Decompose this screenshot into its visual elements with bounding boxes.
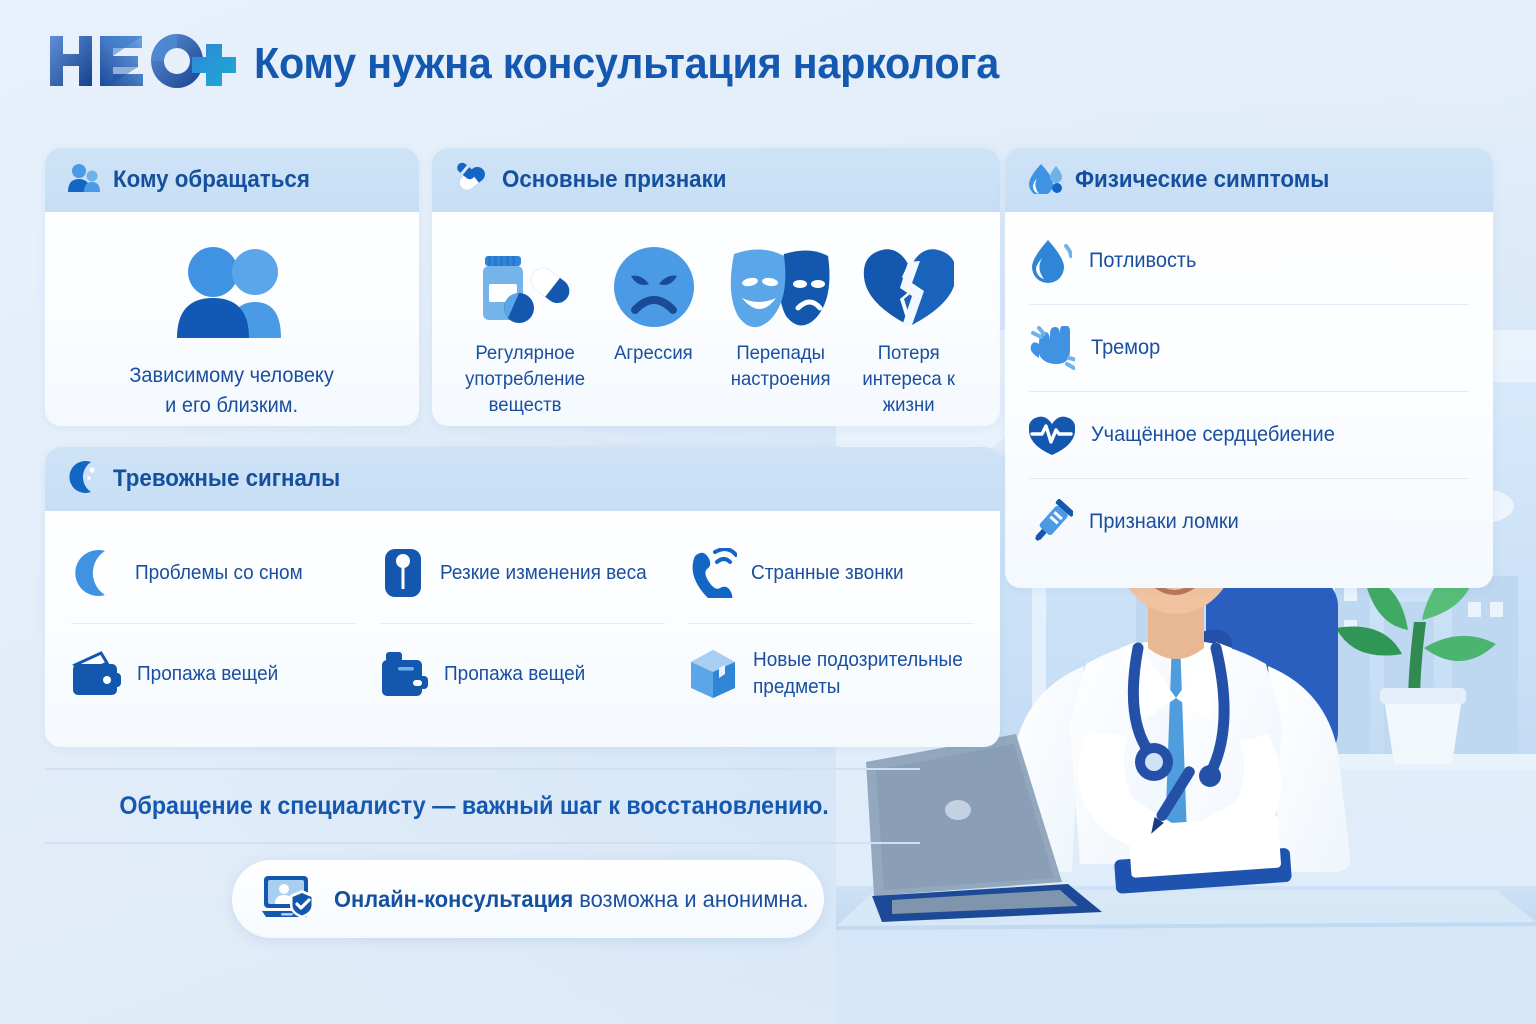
alarm-label: Пропажа вещей xyxy=(137,661,278,688)
pill-text: Онлайн-консультация возможна и анонимна. xyxy=(334,886,809,913)
alarm-item: Проблемы со сном xyxy=(71,523,356,623)
sign-item: Перепады настроения xyxy=(719,236,842,418)
card-phys-body: Потливость Тремор xyxy=(1005,212,1493,575)
alarm-label: Пропажа вещей xyxy=(444,661,585,688)
syringe-icon xyxy=(1029,499,1073,545)
sign-item: Регулярное употребление веществ xyxy=(462,236,588,418)
people-icon xyxy=(67,163,101,198)
physical-symptom-row: Учащённое сердцебиение xyxy=(1029,391,1469,478)
infographic-root: Кому нужна консультация нарколога Кому о… xyxy=(0,0,1536,1024)
angry-face-icon xyxy=(611,236,697,328)
package-box-icon xyxy=(689,648,739,700)
sign-item: Агрессия xyxy=(592,236,715,418)
heart-pulse-icon xyxy=(1029,414,1075,456)
crescent-moon-icon xyxy=(67,460,101,499)
banner-text: Обращение к специалисту — важный шаг к в… xyxy=(45,792,829,821)
alarm-item: Пропажа вещей xyxy=(380,623,665,724)
card-who-header: Кому обращаться xyxy=(45,148,419,212)
who-caption-line2: и его близким. xyxy=(130,391,334,421)
alarm-label: Проблемы со сном xyxy=(135,560,303,587)
card-phys-header: Физические симптомы xyxy=(1005,148,1493,212)
card-alarm-header: Тревожные сигналы xyxy=(45,447,1000,511)
card-signs-title: Основные признаки xyxy=(502,166,726,194)
online-consultation-pill: Онлайн-консультация возможна и анонимна. xyxy=(232,860,824,938)
page-title: Кому нужна консультация нарколога xyxy=(254,39,999,89)
card-main-signs: Основные признаки xyxy=(432,148,1000,426)
page-header: Кому нужна консультация нарколога xyxy=(46,32,1047,95)
bottom-banner: Обращение к специалисту — важный шаг к в… xyxy=(45,768,920,844)
physical-symptom-label: Учащённое сердцебиение xyxy=(1091,421,1335,449)
pill-bottle-icon xyxy=(471,236,579,328)
card-physical-symptoms: Физические симптомы Потливость xyxy=(1005,148,1493,588)
moon-sleep-icon xyxy=(71,548,121,598)
wallet-icon xyxy=(71,651,123,697)
physical-symptom-row: Потливость xyxy=(1029,218,1469,304)
theatre-masks-icon xyxy=(726,236,836,328)
alarm-label: Странные звонки xyxy=(751,560,904,587)
pills-icon xyxy=(454,161,490,200)
card-who-body: Зависимому человеку и его близким. xyxy=(45,212,419,426)
pill-text-rest: возможна и анонимна. xyxy=(573,886,808,912)
water-drop-icon xyxy=(1027,162,1063,199)
physical-symptom-label: Потливость xyxy=(1089,247,1196,275)
phone-call-icon xyxy=(689,548,737,598)
sign-label: Потеря интереса к жизни xyxy=(850,340,967,418)
alarm-item: Странные звонки xyxy=(689,523,974,623)
sweat-drop-icon xyxy=(1029,238,1073,284)
card-who-title: Кому обращаться xyxy=(113,166,310,194)
physical-symptom-label: Тремор xyxy=(1091,334,1160,362)
alarm-label: Новые подозрительные предметы xyxy=(753,647,963,701)
alarm-item: Пропажа вещей xyxy=(71,623,356,724)
physical-symptom-label: Признаки ломки xyxy=(1089,508,1239,536)
sign-item: Потеря интереса к жизни xyxy=(847,236,970,418)
card-alarm-body: Проблемы со сном Резкие изменения веса xyxy=(45,511,1000,734)
who-caption-line1: Зависимому человеку xyxy=(130,361,334,391)
neo-plus-logo xyxy=(46,32,236,95)
card-signs-body: Регулярное употребление веществ Агрессия xyxy=(432,212,1000,426)
alarm-item: Резкие изменения веса xyxy=(380,523,665,623)
alarm-item: Новые подозрительные предметы xyxy=(689,623,974,724)
card-phys-title: Физические симптомы xyxy=(1075,166,1329,194)
two-people-icon xyxy=(167,246,297,345)
shaking-hand-icon xyxy=(1029,326,1075,370)
broken-heart-icon xyxy=(862,236,954,328)
card-who-to-contact: Кому обращаться Зависимому человеку и ег… xyxy=(45,148,419,426)
bag-icon xyxy=(380,650,430,698)
online-consultation-icon xyxy=(260,873,318,926)
card-who-caption: Зависимому человеку и его близким. xyxy=(130,361,334,422)
pill-text-strong: Онлайн-консультация xyxy=(334,886,573,912)
card-alarm-signals: Тревожные сигналы Проблемы со сном xyxy=(45,447,1000,747)
physical-symptom-row: Тремор xyxy=(1029,304,1469,391)
alarm-label: Резкие изменения веса xyxy=(440,560,647,587)
sign-label: Регулярное употребление веществ xyxy=(465,340,585,418)
sign-label: Агрессия xyxy=(614,340,693,366)
physical-symptom-row: Признаки ломки xyxy=(1029,478,1469,565)
weight-scale-icon xyxy=(380,547,426,599)
card-alarm-title: Тревожные сигналы xyxy=(113,465,340,493)
card-signs-header: Основные признаки xyxy=(432,148,1000,212)
sign-label: Перепады настроения xyxy=(722,340,839,392)
